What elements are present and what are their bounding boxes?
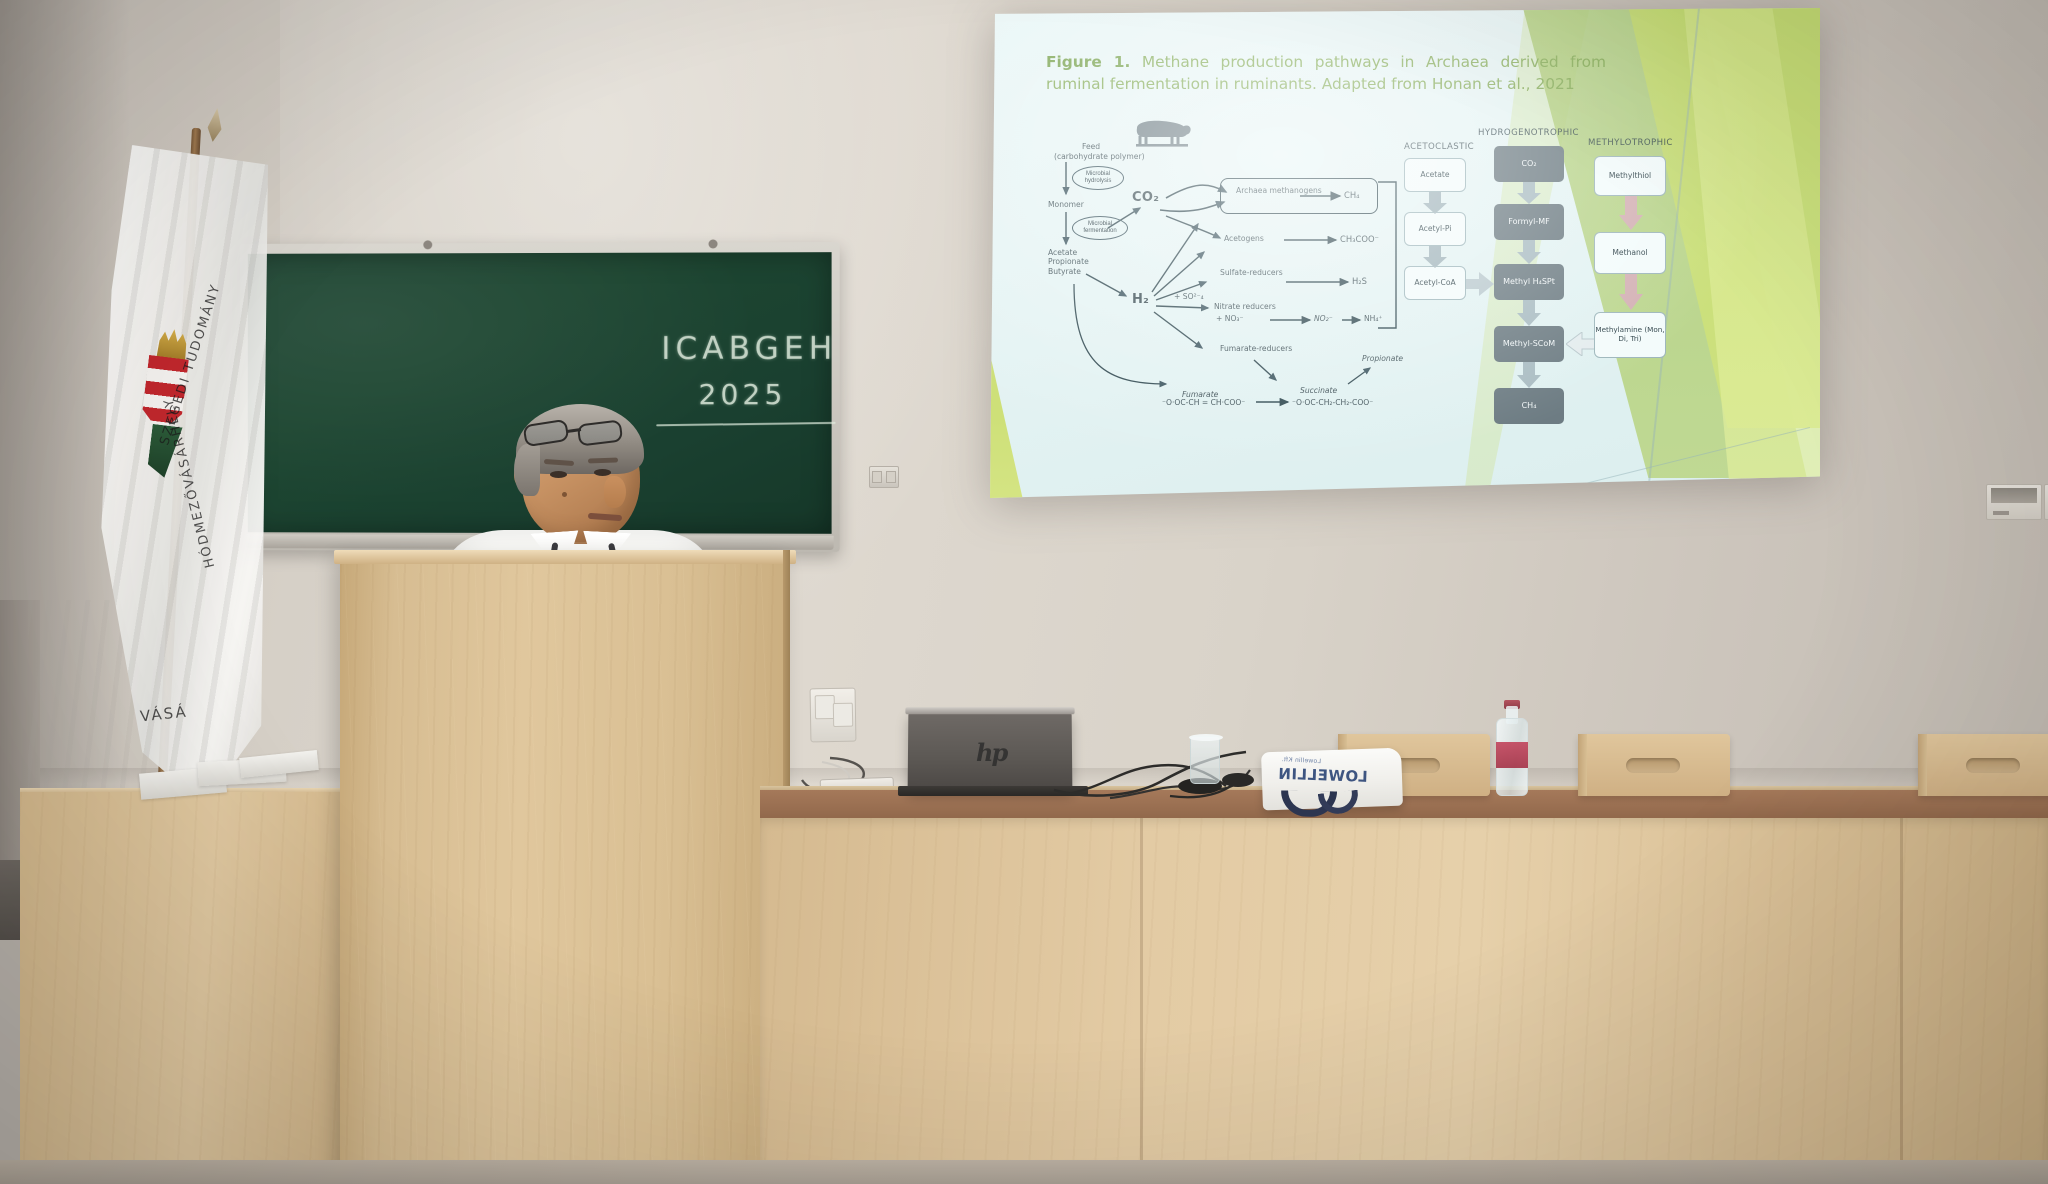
left-desk-grain	[20, 792, 350, 1184]
box-methyl-scom: Methyl-SCoM	[1494, 326, 1564, 362]
presenter-eye-left	[550, 471, 567, 478]
drinking-glass[interactable]	[1190, 736, 1220, 784]
label-acetogens-product: CH₃COO⁻	[1340, 234, 1379, 245]
box-formyl-mf: Formyl-MF	[1494, 204, 1564, 240]
arrow-formyl-down	[1516, 240, 1542, 264]
glass-rim	[1189, 734, 1223, 741]
label-nitrate-product: NH₄⁺	[1364, 314, 1382, 323]
desk-front-panel	[760, 818, 2048, 1184]
wall-socket[interactable]	[810, 688, 857, 743]
presenter-eye-right	[594, 469, 611, 476]
podium-top-surface	[334, 550, 796, 564]
column-header-acetoclastic: ACETOCLASTIC	[1404, 142, 1474, 153]
podium-grain	[340, 558, 790, 1184]
desk-seam-2	[1900, 818, 1903, 1184]
desk-grain	[760, 818, 2048, 1184]
label-succinate: Succinate	[1300, 386, 1337, 395]
control-panel-2[interactable]	[2044, 484, 2048, 520]
label-sulfate-reducers: Sulfate-reducers	[1220, 268, 1283, 277]
light-switch[interactable]	[869, 466, 899, 488]
tote-subtext: Lowellin Kft.	[1281, 756, 1321, 765]
bottle-label	[1496, 742, 1528, 768]
chair-2-edge	[1578, 734, 1587, 796]
chair-3[interactable]	[1918, 734, 2048, 796]
presenter-brow-right	[588, 457, 618, 463]
glasses-icon	[520, 418, 638, 448]
box-methanol: Methanol	[1594, 232, 1666, 274]
presenter-hair-side	[514, 444, 540, 496]
box-methylthiol: Methylthiol	[1594, 156, 1666, 196]
label-h2s: H₂S	[1352, 276, 1367, 287]
chair-2[interactable]	[1578, 734, 1730, 796]
label-acetogens: Acetogens	[1224, 234, 1264, 243]
cow-icon	[1132, 116, 1194, 150]
chalk-title: ICABGEH	[661, 331, 837, 367]
water-bottle[interactable]	[1496, 700, 1528, 796]
slide-title-bold: Figure 1.	[1046, 53, 1130, 71]
box-ch4: CH₄	[1494, 388, 1564, 424]
label-nitrate-inter: NO₂⁻	[1314, 314, 1333, 323]
glasses-lens-left	[523, 419, 570, 448]
label-monomer: Monomer	[1048, 200, 1084, 209]
tote-brand-text: LOWELLIN	[1278, 765, 1368, 786]
arrow-acetylpi-down	[1422, 246, 1448, 268]
methane-pathway-diagram: Feed (carbohydrate polymer) Microbial hy…	[1048, 116, 1748, 446]
label-propionate: Propionate	[1362, 354, 1403, 363]
papers-stack	[140, 752, 330, 802]
projection-screen: Figure 1. Methane production pathways in…	[990, 8, 1820, 498]
label-sulfate-substrate: + SO²⁻₄	[1174, 292, 1204, 301]
left-desk-front	[20, 792, 350, 1184]
label-co2: CO₂	[1132, 190, 1159, 206]
box-co2: CO₂	[1494, 146, 1564, 182]
label-fumarate-reducers: Fumarate-reducers	[1220, 344, 1292, 353]
box-acetyl-pi: Acetyl-Pi	[1404, 212, 1466, 246]
label-h2: H₂	[1132, 292, 1149, 308]
label-ch4-out: CH₄	[1344, 190, 1360, 201]
paper-sheet-3	[239, 750, 319, 778]
slide-surface: Figure 1. Methane production pathways in…	[990, 8, 1820, 498]
hp-logo-icon: hp	[976, 738, 1004, 764]
box-methyl-h4spt: Methyl H₄SPt	[1494, 264, 1564, 300]
label-feed: Feed	[1082, 142, 1100, 151]
laptop[interactable]: hp	[908, 712, 1073, 790]
label-succinate-formula: ⁻O·OC-CH₂-CH₂-COO⁻	[1292, 398, 1373, 407]
label-microbial-fermentation: Microbial fermentation	[1072, 216, 1128, 240]
laptop-lid-edge	[905, 707, 1074, 714]
arrow-methyl-down	[1516, 300, 1542, 326]
presenter-mole	[562, 492, 567, 497]
box-acetyl-coa: Acetyl-CoA	[1404, 266, 1466, 300]
arrow-methylthiol-down	[1618, 196, 1644, 230]
board-mount-right	[709, 239, 718, 248]
board-mount-left	[423, 240, 432, 249]
desk-seam-1	[1140, 818, 1143, 1184]
floor	[0, 1160, 2048, 1184]
plug-2	[833, 703, 853, 727]
arrow-scom-down	[1516, 362, 1542, 388]
panel-label-1	[1993, 511, 2009, 515]
box-acetate: Acetate	[1404, 158, 1466, 192]
box-methylamine: Methylamine (Mon, Di, Tri)	[1594, 312, 1666, 358]
slide-title-rest: Methane production pathways in Archaea d…	[1046, 53, 1606, 93]
presenter-nose	[604, 476, 626, 508]
lecture-hall-scene: ICABGEH 2025 Figure 1. Methane p	[0, 0, 2048, 1184]
arrow-methylamine-left	[1566, 332, 1596, 356]
chair-2-handle	[1626, 758, 1680, 773]
arrow-co2-down	[1516, 182, 1542, 204]
switch-rocker-left[interactable]	[872, 471, 882, 483]
label-nitrate-substrate: + NO₃⁻	[1216, 314, 1244, 323]
glasses-lens-right	[577, 419, 623, 446]
podium	[340, 558, 790, 1184]
column-header-hydrogenotrophic: HYDROGENOTROPHIC	[1478, 128, 1579, 139]
arrow-acetate-down	[1422, 192, 1448, 214]
label-acids: Acetate Propionate Butyrate	[1048, 248, 1089, 276]
slide-title: Figure 1. Methane production pathways in…	[1046, 52, 1606, 96]
label-nitrate-reducers: Nitrate reducers	[1214, 302, 1276, 311]
arrow-acetylcoa-right	[1466, 272, 1494, 296]
label-archaea: Archaea methanogens	[1236, 186, 1322, 196]
arrow-methanol-down	[1618, 274, 1644, 310]
label-feed-sub: (carbohydrate polymer)	[1054, 152, 1145, 161]
panel-display-1	[1991, 488, 2037, 503]
label-fumarate-formula: ⁻O·OC-CH = CH·COO⁻	[1162, 398, 1245, 407]
column-header-methylotrophic: METHYLOTROPHIC	[1588, 138, 1673, 149]
label-microbial-hydrolysis: Microbial hydrolysis	[1072, 166, 1124, 190]
tote-bag[interactable]: Lowellin Kft. LOWELLIN	[1261, 748, 1403, 811]
chair-3-edge	[1918, 734, 1927, 796]
chair-3-handle	[1966, 758, 2020, 773]
control-panel-1[interactable]	[1986, 484, 2042, 520]
switch-rocker-right[interactable]	[886, 471, 896, 483]
